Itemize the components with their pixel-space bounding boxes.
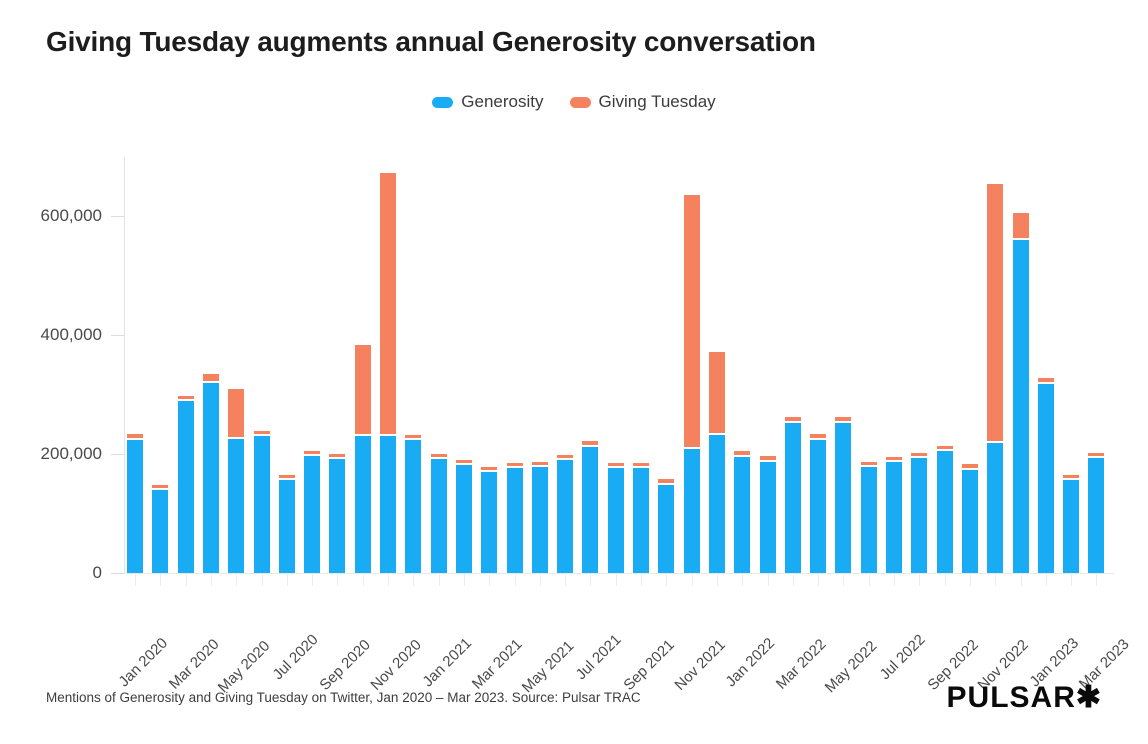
bar-segment-giving-tuesday[interactable] <box>810 434 826 438</box>
x-axis-tick <box>236 574 237 586</box>
bar-group[interactable] <box>380 157 396 573</box>
x-axis-tick <box>186 574 187 586</box>
bar-segment-giving-tuesday[interactable] <box>734 451 750 455</box>
x-axis-tick <box>312 574 313 586</box>
bar-group[interactable] <box>911 157 927 573</box>
bar-segment-giving-tuesday[interactable] <box>329 454 345 457</box>
bar-segment-giving-tuesday[interactable] <box>380 173 396 433</box>
bar-segment-giving-tuesday[interactable] <box>355 345 371 434</box>
bar-group[interactable] <box>937 157 953 573</box>
bar-segment-generosity[interactable] <box>532 467 548 573</box>
bar-segment-generosity[interactable] <box>861 467 877 573</box>
bar-group[interactable] <box>608 157 624 573</box>
x-axis-tick <box>464 574 465 586</box>
bar-segment-giving-tuesday[interactable] <box>709 352 725 432</box>
bar-segment-giving-tuesday[interactable] <box>405 435 421 438</box>
bar-segment-generosity[interactable] <box>203 383 219 573</box>
x-axis-tick <box>818 574 819 586</box>
bar-group[interactable] <box>633 157 649 573</box>
bar-group[interactable] <box>886 157 902 573</box>
bar-segment-generosity[interactable] <box>178 401 194 573</box>
y-axis-tick <box>111 335 124 336</box>
bar-segment-generosity[interactable] <box>1088 458 1104 573</box>
bar-group[interactable] <box>532 157 548 573</box>
bar-group[interactable] <box>127 157 143 573</box>
legend-swatch-generosity <box>432 97 453 108</box>
bar-segment-generosity[interactable] <box>279 480 295 573</box>
x-axis-label: Jul 2022 <box>917 591 969 643</box>
bar-segment-giving-tuesday[interactable] <box>785 417 801 421</box>
x-axis-label-text: Mar 2020 <box>165 636 222 693</box>
bar-segment-generosity[interactable] <box>507 468 523 573</box>
x-axis-tick <box>1096 574 1097 586</box>
bar-segment-generosity[interactable] <box>304 456 320 573</box>
bar-segment-giving-tuesday[interactable] <box>1013 213 1029 238</box>
bar-group[interactable] <box>329 157 345 573</box>
y-axis-tick-label: 200,000 <box>41 444 102 464</box>
x-axis-tick <box>995 574 996 586</box>
x-axis-label: Jul 2021 <box>613 591 665 643</box>
bar-group[interactable] <box>760 157 776 573</box>
bar-group[interactable] <box>355 157 371 573</box>
bar-segment-giving-tuesday[interactable] <box>861 462 877 465</box>
x-axis-tick <box>287 574 288 586</box>
y-axis-tick-label: 600,000 <box>41 206 102 226</box>
x-axis-label-text: Sep 2021 <box>620 636 677 693</box>
y-axis-tick-label: 0 <box>93 563 102 583</box>
x-axis-tick <box>439 574 440 586</box>
bar-segment-generosity[interactable] <box>152 490 168 573</box>
x-axis-tick <box>388 574 389 586</box>
bar-segment-generosity[interactable] <box>1063 480 1079 573</box>
bar-segment-generosity[interactable] <box>835 423 851 573</box>
bar-segment-generosity[interactable] <box>760 462 776 573</box>
bar-segment-giving-tuesday[interactable] <box>962 464 978 468</box>
x-axis-tick <box>869 574 870 586</box>
bar-group[interactable] <box>962 157 978 573</box>
bar-segment-generosity[interactable] <box>734 457 750 573</box>
bar-segment-giving-tuesday[interactable] <box>684 195 700 446</box>
bar-segment-giving-tuesday[interactable] <box>608 463 624 466</box>
y-axis-line <box>124 157 125 573</box>
x-axis-tick <box>843 574 844 586</box>
bar-segment-generosity[interactable] <box>937 451 953 573</box>
bar-segment-generosity[interactable] <box>481 472 497 573</box>
bar-segment-generosity[interactable] <box>684 449 700 573</box>
bar-group[interactable] <box>228 157 244 573</box>
bar-group[interactable] <box>582 157 598 573</box>
bar-segment-generosity[interactable] <box>431 459 447 573</box>
x-axis-tick <box>540 574 541 586</box>
bar-segment-generosity[interactable] <box>329 459 345 573</box>
x-axis-tick <box>1071 574 1072 586</box>
bar-segment-generosity[interactable] <box>127 440 143 573</box>
bar-group[interactable] <box>734 157 750 573</box>
chart-legend: Generosity Giving Tuesday <box>0 92 1148 112</box>
bar-segment-giving-tuesday[interactable] <box>279 475 295 478</box>
bar-group[interactable] <box>254 157 270 573</box>
bar-group[interactable] <box>1013 157 1029 573</box>
x-axis-label-text: Mar 2021 <box>469 636 526 693</box>
x-axis-tick <box>515 574 516 586</box>
plot-area: 0200,000400,000600,000 Jan 2020Mar 2020M… <box>124 157 1114 573</box>
bar-group[interactable] <box>1038 157 1054 573</box>
x-axis-tick <box>135 574 136 586</box>
x-axis-tick <box>717 574 718 586</box>
x-axis-tick <box>413 574 414 586</box>
x-axis-tick <box>616 574 617 586</box>
y-axis-tick <box>111 573 124 574</box>
legend-item-giving-tuesday[interactable]: Giving Tuesday <box>570 92 716 112</box>
chart-card: Giving Tuesday augments annual Generosit… <box>0 0 1148 744</box>
bar-segment-generosity[interactable] <box>380 436 396 573</box>
bar-segment-generosity[interactable] <box>228 439 244 573</box>
legend-item-generosity[interactable]: Generosity <box>432 92 543 112</box>
bar-segment-giving-tuesday[interactable] <box>658 479 674 483</box>
bar-group[interactable] <box>304 157 320 573</box>
bar-group[interactable] <box>1088 157 1104 573</box>
bar-segment-generosity[interactable] <box>633 468 649 573</box>
x-axis-tick <box>160 574 161 586</box>
bar-group[interactable] <box>203 157 219 573</box>
bar-segment-generosity[interactable] <box>886 462 902 573</box>
x-axis-label-text: Jan 2020 <box>115 635 171 691</box>
bar-group[interactable] <box>279 157 295 573</box>
bar-segment-giving-tuesday[interactable] <box>835 417 851 421</box>
bar-group[interactable] <box>507 157 523 573</box>
x-axis-tick <box>337 574 338 586</box>
bar-segment-giving-tuesday[interactable] <box>557 455 573 458</box>
x-axis-tick <box>262 574 263 586</box>
x-axis-tick <box>590 574 591 586</box>
x-axis-tick <box>489 574 490 586</box>
bar-segment-giving-tuesday[interactable] <box>203 374 219 381</box>
x-axis-tick <box>1021 574 1022 586</box>
bar-segment-generosity[interactable] <box>987 443 1003 573</box>
x-axis-tick <box>945 574 946 586</box>
bar-segment-giving-tuesday[interactable] <box>304 451 320 454</box>
x-axis-tick <box>894 574 895 586</box>
x-axis-label: Jul 2020 <box>309 591 361 643</box>
bar-group[interactable] <box>861 157 877 573</box>
bar-segment-generosity[interactable] <box>608 468 624 573</box>
bar-segment-generosity[interactable] <box>785 423 801 573</box>
x-axis-tick <box>768 574 769 586</box>
x-axis-tick <box>692 574 693 586</box>
bar-group[interactable] <box>152 157 168 573</box>
x-axis-tick <box>211 574 212 586</box>
bar-group[interactable] <box>835 157 851 573</box>
bar-segment-giving-tuesday[interactable] <box>987 184 1003 441</box>
bar-segment-giving-tuesday[interactable] <box>1063 475 1079 478</box>
bar-segment-generosity[interactable] <box>911 458 927 573</box>
x-axis-tick <box>641 574 642 586</box>
bar-segment-generosity[interactable] <box>1038 384 1054 573</box>
bar-segment-giving-tuesday[interactable] <box>254 431 270 434</box>
bar-segment-giving-tuesday[interactable] <box>1088 453 1104 457</box>
bar-segment-giving-tuesday[interactable] <box>431 454 447 457</box>
bar-segment-giving-tuesday[interactable] <box>937 446 953 450</box>
bar-segment-giving-tuesday[interactable] <box>760 456 776 460</box>
bar-group[interactable] <box>785 157 801 573</box>
bar-segment-generosity[interactable] <box>582 447 598 573</box>
chart-caption: Mentions of Generosity and Giving Tuesda… <box>46 690 641 705</box>
x-axis-tick <box>565 574 566 586</box>
legend-label-giving-tuesday: Giving Tuesday <box>599 92 716 112</box>
x-axis-line <box>124 573 1114 574</box>
bar-segment-generosity[interactable] <box>355 436 371 573</box>
bar-group[interactable] <box>709 157 725 573</box>
bar-segment-generosity[interactable] <box>810 440 826 573</box>
bar-segment-giving-tuesday[interactable] <box>1038 378 1054 382</box>
legend-label-generosity: Generosity <box>461 92 543 112</box>
bar-segment-generosity[interactable] <box>456 465 472 573</box>
x-axis-tick <box>666 574 667 586</box>
bar-group[interactable] <box>1063 157 1079 573</box>
x-axis-label-text: May 2021 <box>519 638 578 697</box>
bar-segment-giving-tuesday[interactable] <box>481 467 497 470</box>
x-axis-tick <box>363 574 364 586</box>
bar-group[interactable] <box>431 157 447 573</box>
bar-segment-generosity[interactable] <box>557 460 573 574</box>
x-axis-tick <box>970 574 971 586</box>
x-axis-label-text: Sep 2020 <box>317 636 374 693</box>
bar-segment-giving-tuesday[interactable] <box>532 462 548 465</box>
y-axis-tick <box>111 454 124 455</box>
bar-segment-giving-tuesday[interactable] <box>911 453 927 456</box>
bar-group[interactable] <box>481 157 497 573</box>
bar-group[interactable] <box>178 157 194 573</box>
bar-group[interactable] <box>658 157 674 573</box>
bar-segment-generosity[interactable] <box>1013 240 1029 573</box>
page-title: Giving Tuesday augments annual Generosit… <box>46 26 816 58</box>
bar-segment-giving-tuesday[interactable] <box>178 396 194 400</box>
bar-segment-giving-tuesday[interactable] <box>886 457 902 460</box>
bar-group[interactable] <box>456 157 472 573</box>
bar-segment-generosity[interactable] <box>709 435 725 573</box>
x-axis-tick <box>919 574 920 586</box>
pulsar-logo: PULSAR✱ <box>947 680 1102 715</box>
bar-segment-giving-tuesday[interactable] <box>582 441 598 445</box>
bar-group[interactable] <box>810 157 826 573</box>
x-axis-tick <box>793 574 794 586</box>
bar-group[interactable] <box>557 157 573 573</box>
bar-group[interactable] <box>684 157 700 573</box>
x-axis-label: Mar 2023 <box>1121 591 1148 648</box>
bar-segment-giving-tuesday[interactable] <box>456 460 472 463</box>
bar-segment-generosity[interactable] <box>658 485 674 573</box>
legend-swatch-giving-tuesday <box>570 97 591 108</box>
bar-segment-giving-tuesday[interactable] <box>127 434 143 438</box>
y-axis-tick <box>111 216 124 217</box>
bar-segment-giving-tuesday[interactable] <box>507 463 523 466</box>
x-axis-tick <box>1046 574 1047 586</box>
bar-group[interactable] <box>405 157 421 573</box>
bar-segment-generosity[interactable] <box>254 436 270 573</box>
bar-group[interactable] <box>987 157 1003 573</box>
x-axis-tick <box>742 574 743 586</box>
bar-segment-giving-tuesday[interactable] <box>228 389 244 437</box>
y-axis-tick-label: 400,000 <box>41 325 102 345</box>
bar-segment-generosity[interactable] <box>962 470 978 573</box>
bar-segment-giving-tuesday[interactable] <box>152 485 168 488</box>
bar-segment-generosity[interactable] <box>405 440 421 573</box>
bar-segment-giving-tuesday[interactable] <box>633 463 649 466</box>
